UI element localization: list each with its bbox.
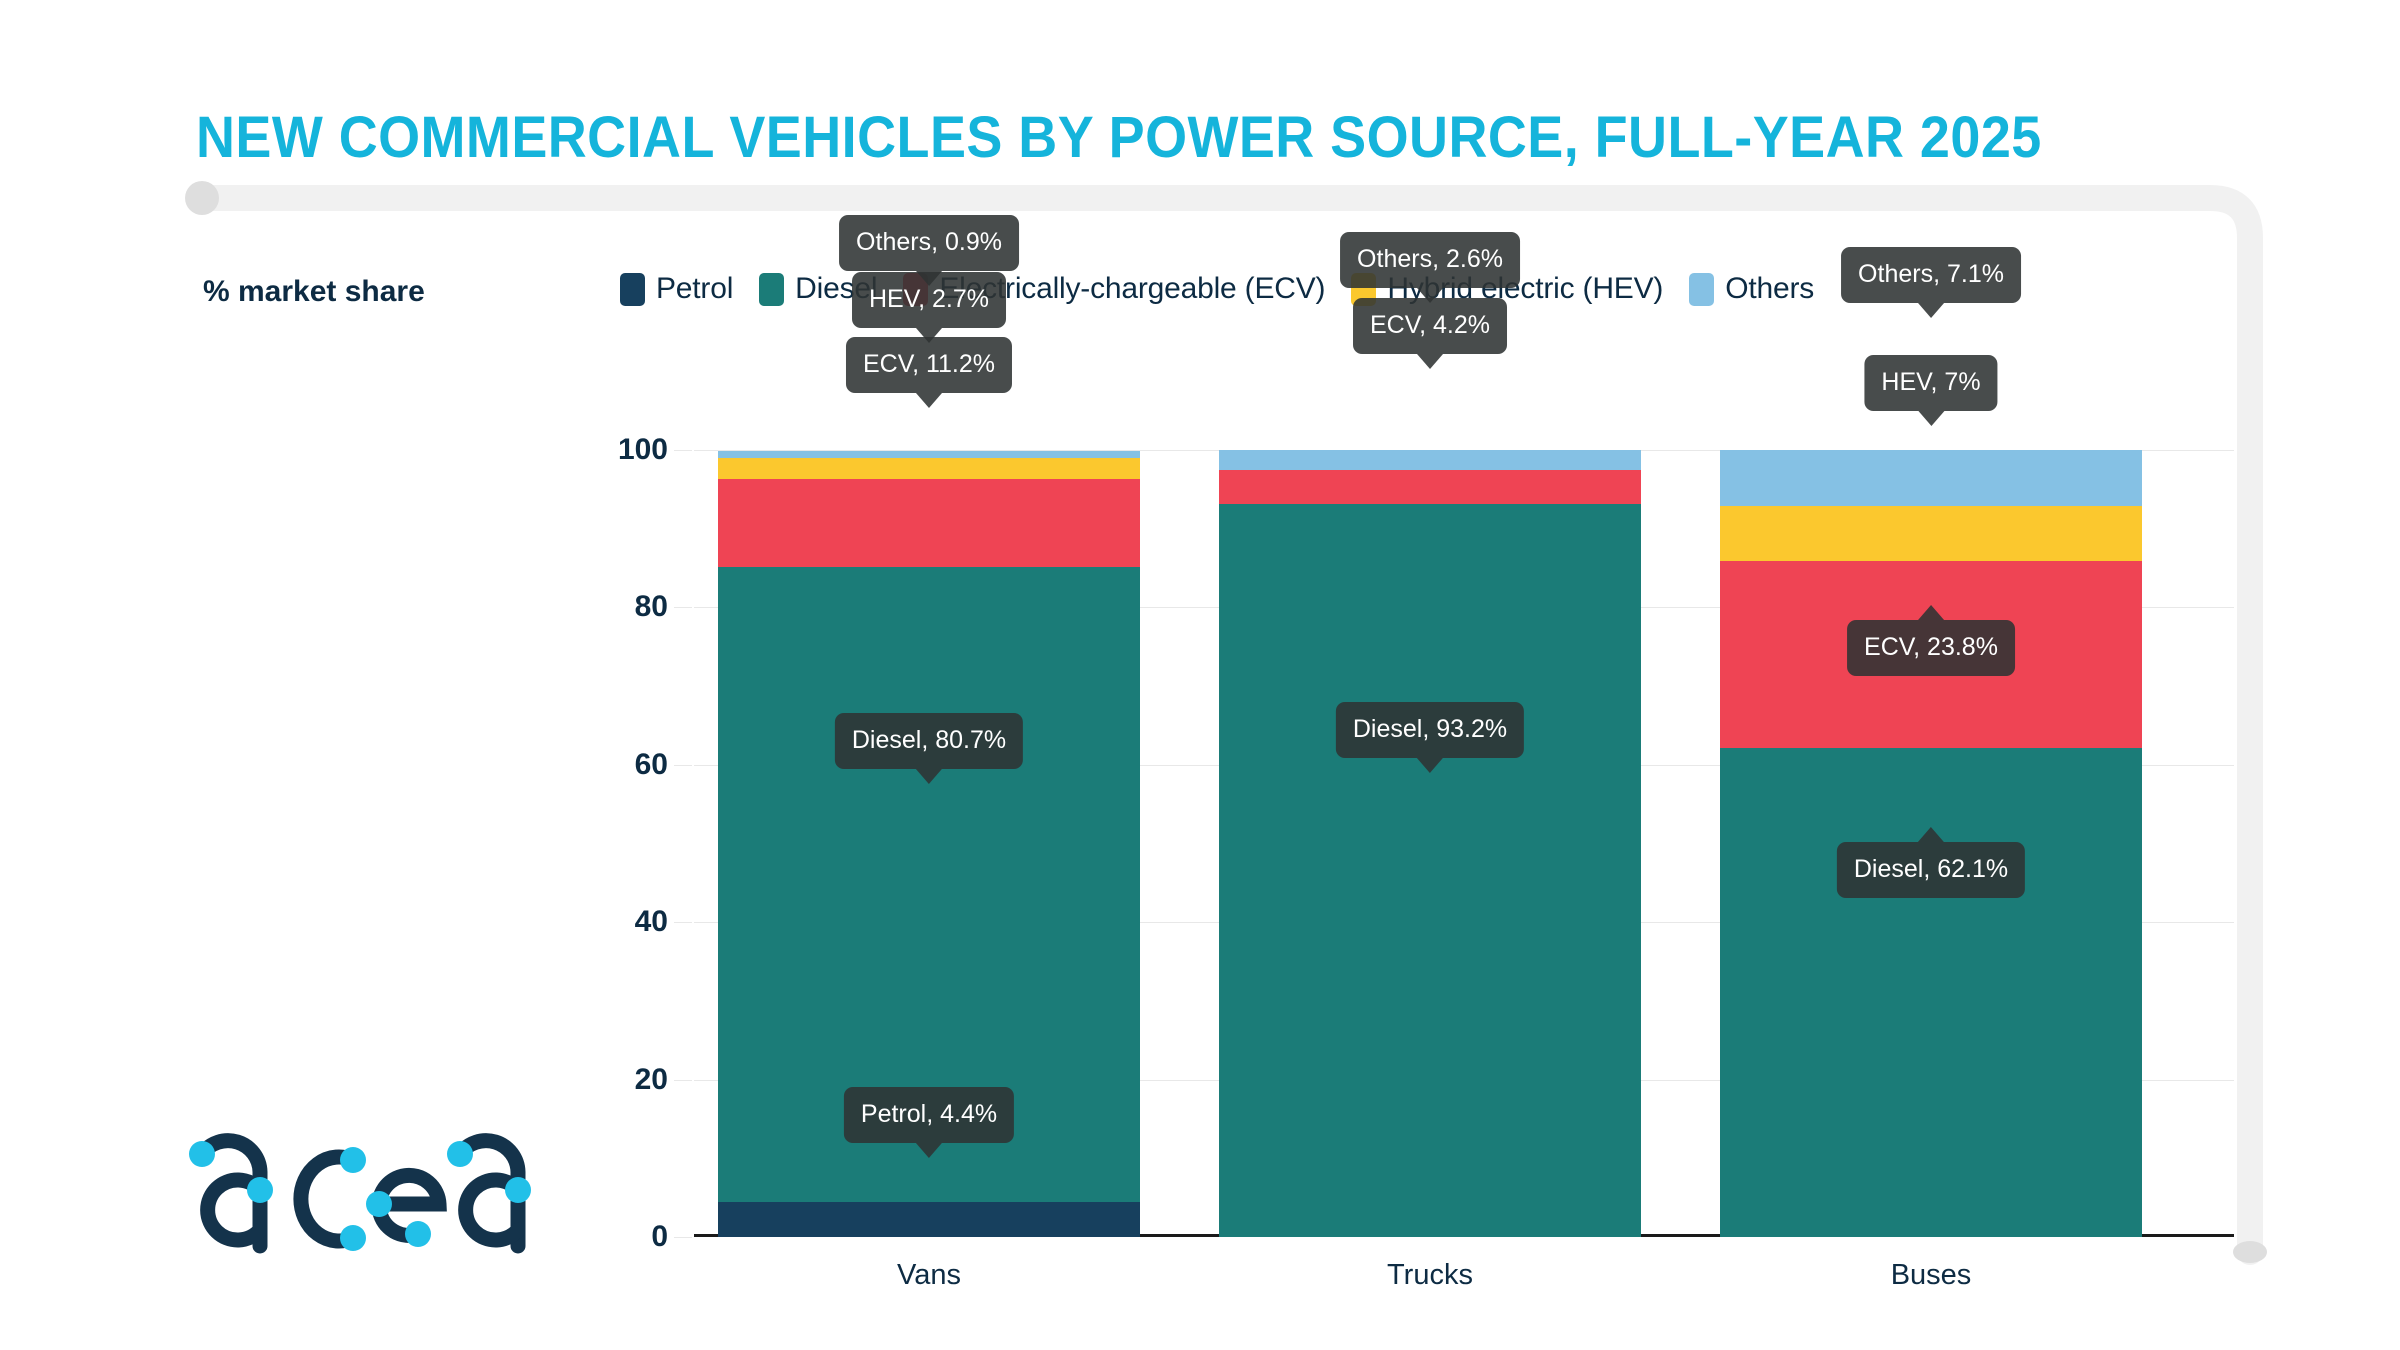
x-axis-label-trucks: Trucks bbox=[1387, 1259, 1473, 1292]
y-tick-label: 20 bbox=[635, 1063, 668, 1097]
bar-trucks[interactable]: Trucks bbox=[1219, 450, 1641, 1237]
bar-segment-trucks-others[interactable] bbox=[1219, 450, 1641, 470]
bar-segment-vans-others[interactable] bbox=[718, 451, 1140, 458]
data-callout-vans-others: Others, 0.9% bbox=[839, 215, 1019, 271]
y-tick-mark bbox=[674, 450, 692, 451]
legend-label-others: Others bbox=[1725, 272, 1814, 306]
legend-label-petrol: Petrol bbox=[656, 272, 733, 306]
legend-swatch-others bbox=[1689, 273, 1714, 306]
legend-item-petrol[interactable]: Petrol bbox=[620, 272, 733, 306]
data-callout-vans-hev: HEV, 2.7% bbox=[852, 272, 1006, 328]
bar-segment-vans-petrol[interactable] bbox=[718, 1202, 1140, 1237]
bar-segment-trucks-electrically-chargeable-ecv[interactable] bbox=[1219, 470, 1641, 503]
bar-segment-buses-hybrid-electric-hev[interactable] bbox=[1720, 506, 2142, 561]
y-tick-label: 100 bbox=[618, 433, 668, 467]
legend-swatch-diesel bbox=[759, 273, 784, 306]
y-axis-title: % market share bbox=[203, 275, 425, 309]
y-tick-label: 80 bbox=[635, 590, 668, 624]
data-callout-vans-ecv: ECV, 11.2% bbox=[846, 337, 1012, 393]
y-tick-mark bbox=[674, 765, 692, 766]
y-tick-label: 40 bbox=[635, 905, 668, 939]
y-tick-mark bbox=[674, 922, 692, 923]
data-callout-vans-petrol: Petrol, 4.4% bbox=[844, 1087, 1014, 1143]
data-callout-trucks-diesel: Diesel, 93.2% bbox=[1336, 702, 1524, 758]
data-callout-buses-ecv: ECV, 23.8% bbox=[1847, 620, 2015, 676]
x-axis-label-buses: Buses bbox=[1891, 1259, 1972, 1292]
data-callout-buses-diesel: Diesel, 62.1% bbox=[1837, 842, 2025, 898]
y-tick-mark bbox=[674, 1237, 692, 1238]
page-title: NEW COMMERCIAL VEHICLES BY POWER SOURCE,… bbox=[196, 104, 2042, 171]
bar-segment-buses-diesel[interactable] bbox=[1720, 748, 2142, 1237]
data-callout-trucks-others: Others, 2.6% bbox=[1340, 232, 1520, 288]
y-tick-mark bbox=[674, 1080, 692, 1081]
plot-area: 020406080100VansTrucksBusesOthers, 0.9%H… bbox=[694, 450, 2234, 1237]
legend-swatch-petrol bbox=[620, 273, 645, 306]
acea-logo bbox=[186, 1118, 536, 1278]
y-tick-mark bbox=[674, 607, 692, 608]
data-callout-buses-hev: HEV, 7% bbox=[1864, 355, 1997, 411]
bar-segment-vans-electrically-chargeable-ecv[interactable] bbox=[718, 479, 1140, 567]
bar-segment-buses-others[interactable] bbox=[1720, 450, 2142, 506]
legend: Petrol Diesel Electrically-chargeable (E… bbox=[620, 272, 1814, 306]
y-tick-label: 60 bbox=[635, 748, 668, 782]
legend-item-others[interactable]: Others bbox=[1689, 272, 1814, 306]
y-tick-label: 0 bbox=[651, 1220, 668, 1254]
bar-segment-vans-hybrid-electric-hev[interactable] bbox=[718, 458, 1140, 479]
data-callout-trucks-ecv: ECV, 4.2% bbox=[1353, 298, 1507, 354]
x-axis-label-vans: Vans bbox=[897, 1259, 961, 1292]
chart-page: NEW COMMERCIAL VEHICLES BY POWER SOURCE,… bbox=[0, 0, 2400, 1350]
data-callout-vans-diesel: Diesel, 80.7% bbox=[835, 713, 1023, 769]
bar-segment-trucks-diesel[interactable] bbox=[1219, 504, 1641, 1237]
data-callout-buses-others: Others, 7.1% bbox=[1841, 247, 2021, 303]
